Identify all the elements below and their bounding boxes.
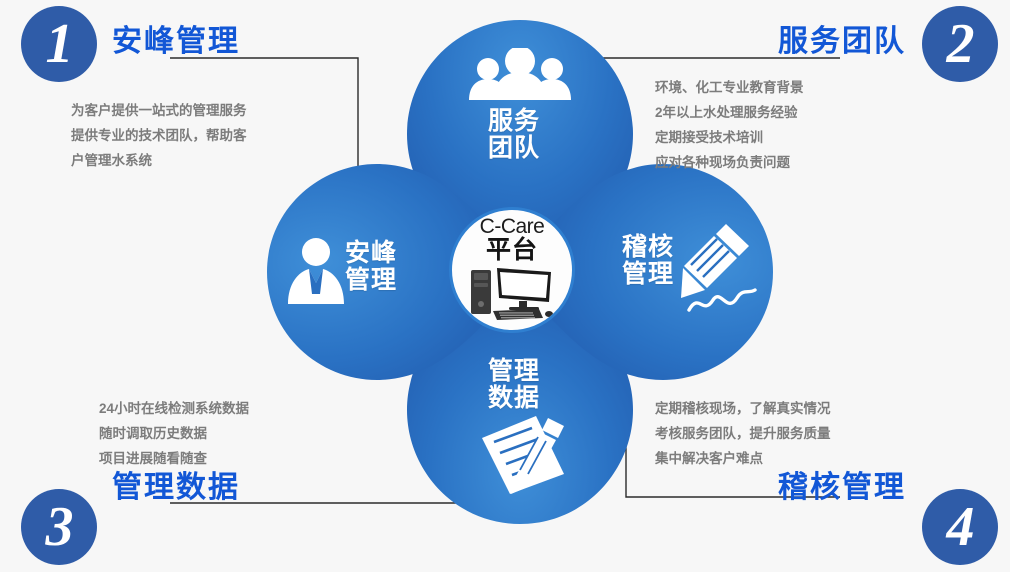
petal-label-bottom: 管理 数据 — [488, 358, 540, 412]
text-line: 2年以上水处理服务经验 — [655, 100, 804, 125]
step-badge-1-number: 1 — [46, 16, 73, 72]
quadrant-body-3: 24小时在线检测系统数据随时调取历史数据项目进展随看随查 — [99, 396, 249, 471]
text-line: 环境、化工专业教育背景 — [655, 75, 804, 100]
quadrant-body-2: 环境、化工专业教育背景2年以上水处理服务经验定期接受技术培训应对各种现场负责问题 — [655, 75, 804, 175]
text-line: 为客户提供一站式的管理服务 — [71, 98, 247, 123]
petal-label-top: 服务 团队 — [488, 108, 540, 162]
center-hub[interactable]: C-Care 平台 — [449, 207, 575, 333]
text-line: 考核服务团队，提升服务质量 — [655, 421, 831, 446]
people-group-icon — [466, 48, 574, 100]
text-line: 提供专业的技术团队，帮助客 — [71, 123, 247, 148]
quadrant-title-1: 安峰管理 — [112, 27, 240, 57]
petal-label-right: 稽核 管理 — [622, 234, 674, 288]
step-badge-2: 2 — [922, 6, 998, 82]
quadrant-title-4: 稽核管理 — [778, 473, 906, 503]
infographic-canvas: 服务 团队 安峰 管理 稽核 管理 管理 数据 C-Care 平台 — [0, 0, 1010, 572]
text-line: 户管理水系统 — [71, 148, 247, 173]
quadrant-title-2: 服务团队 — [778, 27, 906, 57]
step-badge-4-number: 4 — [947, 499, 974, 555]
desktop-computer-icon — [469, 264, 555, 320]
hub-title-cn: 平台 — [486, 237, 538, 263]
quadrant-body-1: 为客户提供一站式的管理服务提供专业的技术团队，帮助客户管理水系统 — [71, 98, 247, 173]
clipboard-pencil-icon — [478, 412, 568, 496]
quadrant-title-3: 管理数据 — [112, 473, 240, 503]
step-badge-3: 3 — [21, 489, 97, 565]
text-line: 集中解决客户难点 — [655, 446, 831, 471]
text-line: 随时调取历史数据 — [99, 421, 249, 446]
text-line: 应对各种现场负责问题 — [655, 150, 804, 175]
text-line: 项目进展随看随查 — [99, 446, 249, 471]
petal-label-left: 安峰 管理 — [345, 240, 397, 294]
step-badge-2-number: 2 — [947, 16, 974, 72]
pencil-signature-icon — [681, 222, 759, 318]
quadrant-body-4: 定期稽核现场，了解真实情况考核服务团队，提升服务质量集中解决客户难点 — [655, 396, 831, 471]
text-line: 定期稽核现场，了解真实情况 — [655, 396, 831, 421]
hub-title-en: C-Care — [480, 216, 545, 237]
text-line: 定期接受技术培训 — [655, 125, 804, 150]
businessman-icon — [286, 236, 346, 304]
step-badge-3-number: 3 — [46, 499, 73, 555]
step-badge-4: 4 — [922, 489, 998, 565]
step-badge-1: 1 — [21, 6, 97, 82]
text-line: 24小时在线检测系统数据 — [99, 396, 249, 421]
